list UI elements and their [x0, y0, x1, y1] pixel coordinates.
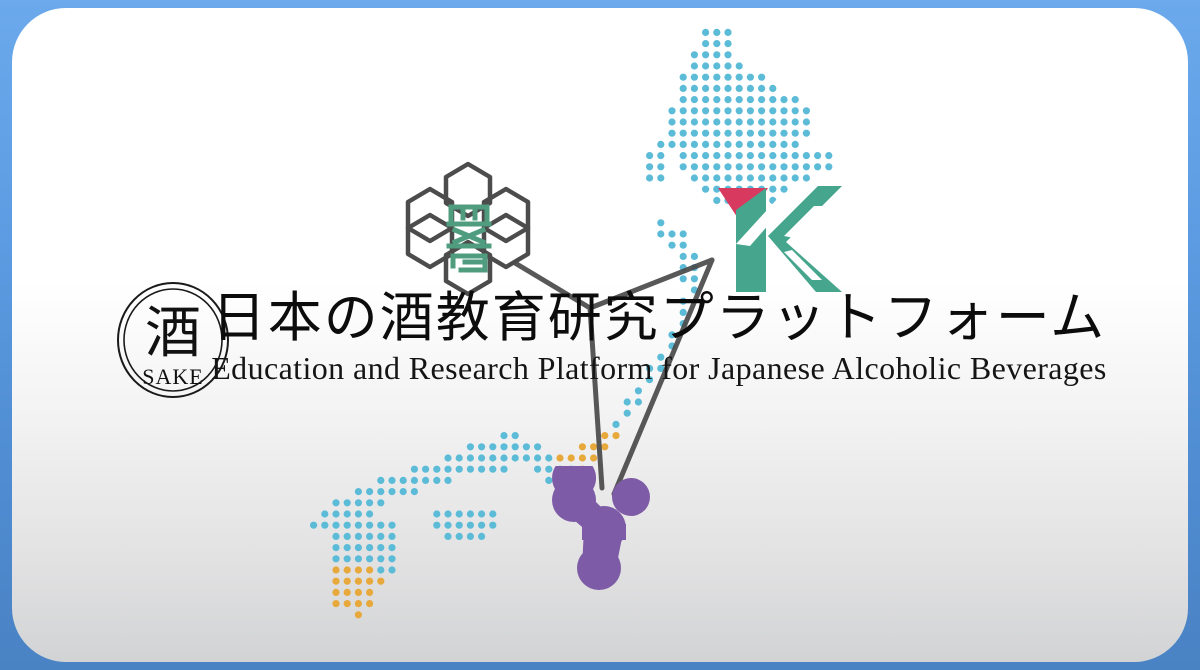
molecule-atom-right	[612, 478, 650, 516]
screenshot-root: 酒 SAKE 日本の酒教育研究プラットフォーム Education and Re…	[0, 0, 1200, 670]
page-title-japanese: 日本の酒教育研究プラットフォーム	[12, 289, 1188, 347]
page-subtitle-english: Education and Research Platform for Japa…	[12, 349, 1188, 387]
title-block: 日本の酒教育研究プラットフォーム Education and Research …	[12, 289, 1188, 387]
k-logo-svg	[706, 180, 842, 298]
content-card: 酒 SAKE 日本の酒教育研究プラットフォーム Education and Re…	[12, 8, 1188, 662]
hexagon-logo-svg	[395, 160, 541, 298]
molecule-svg	[536, 466, 668, 594]
molecule-graphic	[536, 466, 668, 594]
k-logo-arms	[768, 186, 842, 292]
molecule-bond-3	[582, 524, 626, 540]
k-monogram-logo	[706, 180, 842, 298]
hexagon-university-logo	[395, 160, 541, 298]
